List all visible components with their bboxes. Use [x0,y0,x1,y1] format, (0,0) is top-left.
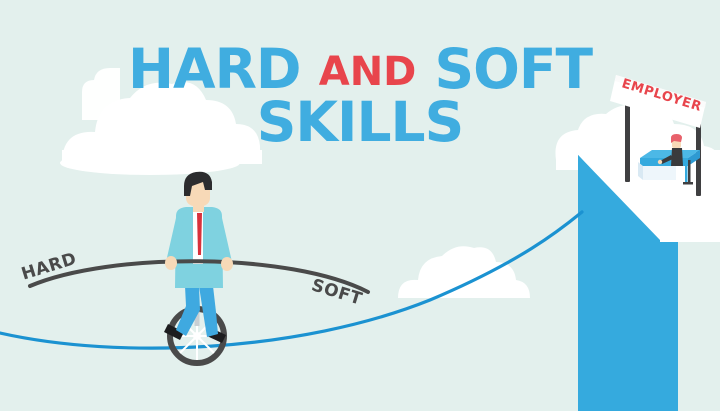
walker-hand-right [221,257,233,271]
scene-illustration [0,0,720,411]
walker-hand-left [165,256,177,270]
infographic-canvas: HARD AND SOFT SKILLS HARD SOFT EMPLOYER [0,0,720,411]
